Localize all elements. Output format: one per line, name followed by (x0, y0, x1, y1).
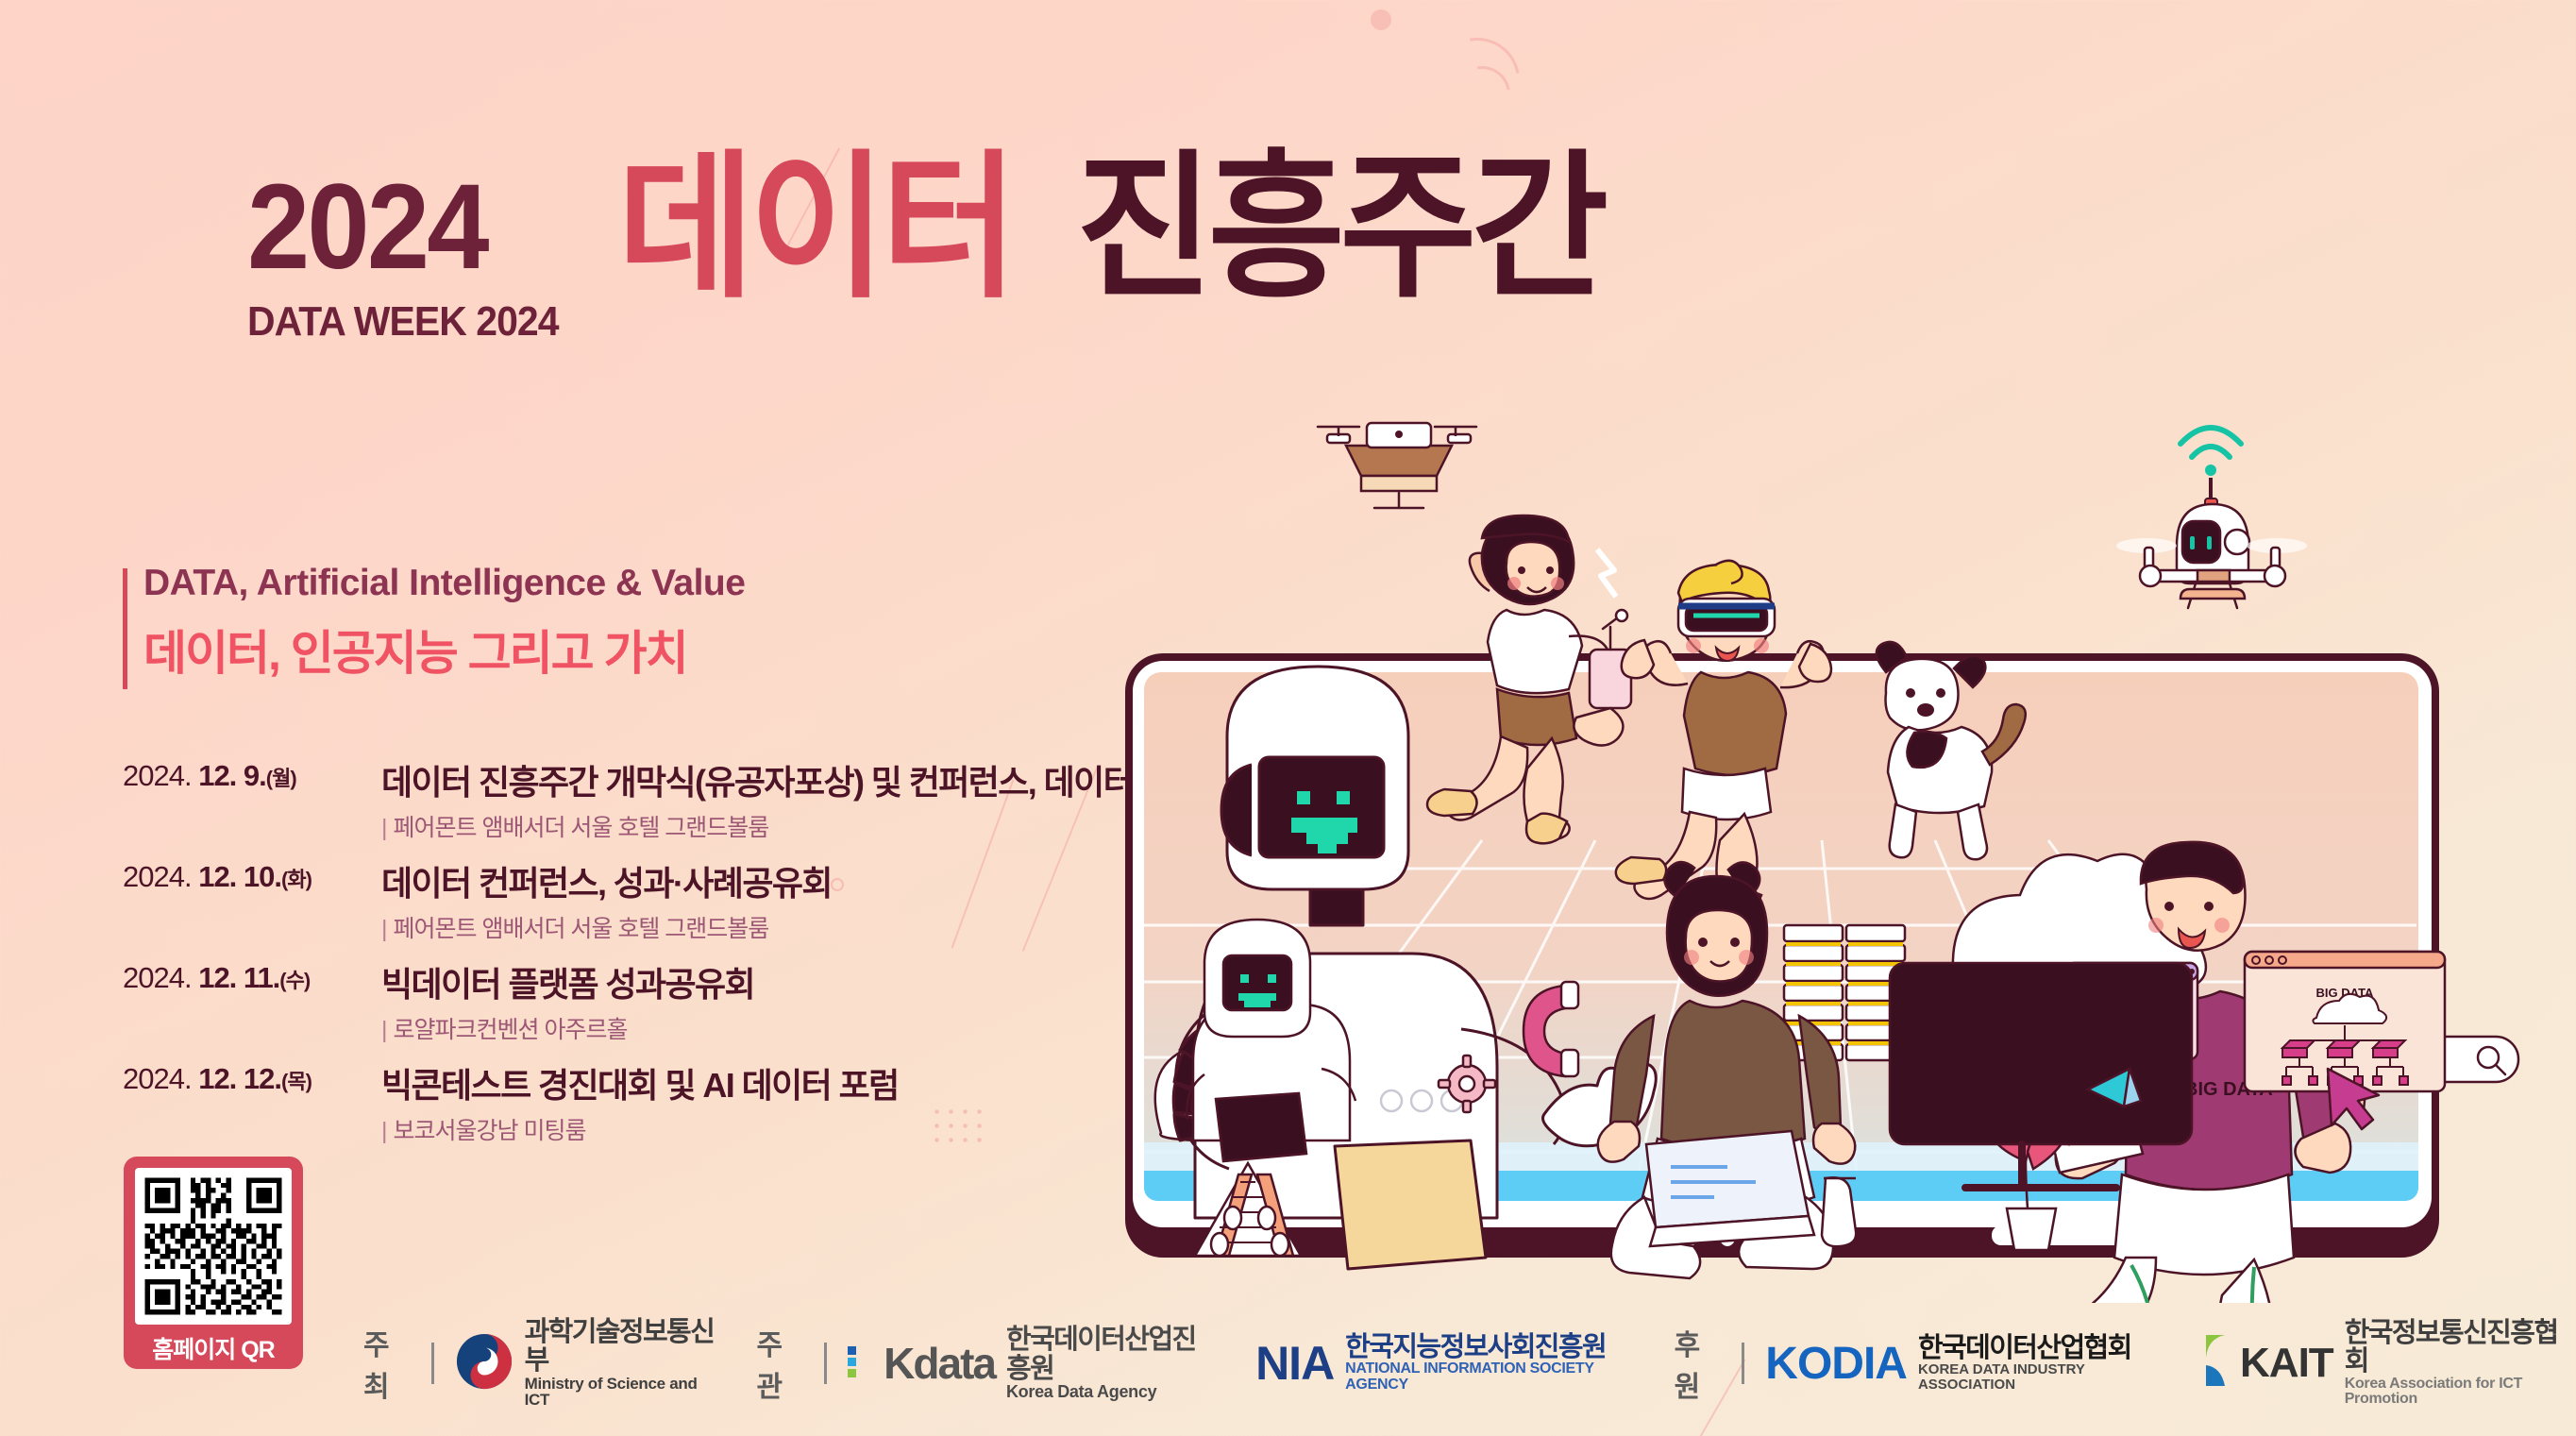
schedule-date-monthday: 12. 11. (198, 961, 279, 994)
sponsor-item-msit: 주최 과학기술정보통신부 Ministry of Science and ICT (363, 1318, 719, 1410)
venue-text: 페어몬트 앰배서더 서울 호텔 그랜드볼룸 (394, 916, 769, 942)
wifi-icon (2180, 428, 2241, 476)
sponsor-divider (1742, 1343, 1744, 1384)
schedule-title: 데이터 진흥주간 개막식(유공자포상) 및 컨퍼런스, 데이터 밋업 (381, 755, 1201, 804)
drone-delivery (1318, 423, 1476, 508)
schedule-row: 2024. 12. 11.(수) 빅데이터 플랫폼 성과공유회 |로얄파크컨벤션… (123, 957, 1201, 1045)
schedule-date-monthday: 12. 9. (198, 759, 266, 792)
kdata-icon (848, 1339, 872, 1387)
schedule-date-dow: (목) (281, 1070, 311, 1093)
sponsor-name-en: NATIONAL INFORMATION SOCIETY AGENCY (1345, 1361, 1637, 1394)
sponsor-name-ko: 과학기술정보통신부 (525, 1318, 719, 1376)
schedule-date-dow: (수) (279, 969, 310, 992)
decorative-arc-2 (1442, 55, 1522, 134)
year-2024: 2024 (247, 172, 487, 283)
schedule-date-year: 2024. (123, 860, 198, 893)
schedule-list: 2024. 12. 9.(월) 데이터 진흥주간 개막식(유공자포상) 및 컨퍼… (123, 755, 1201, 1159)
sponsor-wordmark: NIA (1255, 1336, 1334, 1391)
taegeuk-icon (455, 1332, 514, 1395)
schedule-venue: |페어몬트 앰배서더 서울 호텔 그랜드볼룸 (381, 809, 1201, 843)
schedule-date-year: 2024. (123, 961, 198, 994)
year-column: 2024 DATA WEEK 2024 (247, 172, 581, 346)
schedule-venue: |로얄파크컨벤션 아주르홀 (381, 1011, 754, 1045)
schedule-date: 2024. 12. 12.(목) (123, 1058, 376, 1096)
schedule-title: 데이터 컨퍼런스, 성과·사례공유회 (381, 856, 832, 905)
korean-title: 데이터 진흥주간 (617, 153, 1637, 304)
title-week-korean: 진흥주간 (1076, 153, 1604, 304)
schedule-date: 2024. 12. 10.(화) (123, 856, 376, 894)
title-data-korean: 데이터 (617, 153, 1013, 304)
venue-bar: | (381, 1017, 387, 1043)
schedule-date-year: 2024. (123, 1062, 198, 1095)
venue-text: 보코서울강남 미팅룸 (394, 1118, 586, 1144)
schedule-date-year: 2024. (123, 759, 198, 792)
sponsor-wordmark: KODIA (1765, 1338, 1907, 1390)
schedule-row: 2024. 12. 10.(화) 데이터 컨퍼런스, 성과·사례공유회 |페어몬… (123, 856, 1201, 944)
qr-code-image[interactable] (135, 1168, 292, 1325)
hero-illustration: BIG DATA (1104, 397, 2558, 1303)
venue-bar: | (381, 815, 387, 841)
schedule-date-dow: (월) (266, 767, 296, 790)
schedule-row: 2024. 12. 12.(목) 빅콘테스트 경진대회 및 AI 데이터 포럼 … (123, 1058, 1201, 1146)
sponsor-name-ko: 한국데이터산업진흥원 (1006, 1326, 1219, 1383)
sponsor-item-kait: KAIT 한국정보통신진흥협회 Korea Association for IC… (2197, 1319, 2576, 1408)
schedule-title: 빅데이터 플랫폼 성과공유회 (381, 957, 754, 1006)
subtitle-block: DATA, Artificial Intelligence & Value 데이… (123, 563, 745, 684)
schedule-venue: |보코서울강남 미팅룸 (381, 1112, 899, 1146)
sponsor-role-label: 주최 (363, 1322, 411, 1405)
qr-card[interactable]: 홈페이지 QR (124, 1157, 303, 1369)
sponsor-divider (431, 1343, 434, 1384)
schedule-date-monthday: 12. 12. (198, 1062, 281, 1095)
poster-title-block: 2024 DATA WEEK 2024 데이터 진흥주간 (247, 166, 1637, 346)
subtitle-english: DATA, Artificial Intelligence & Value (143, 563, 745, 604)
sponsor-name-ko: 한국정보통신진흥협회 (2345, 1319, 2576, 1377)
schedule-date: 2024. 12. 9.(월) (123, 755, 376, 793)
schedule-body: 데이터 진흥주간 개막식(유공자포상) 및 컨퍼런스, 데이터 밋업 |페어몬트… (376, 755, 1201, 843)
decorative-arc-1 (1418, 21, 1536, 139)
qr-label: 홈페이지 QR (152, 1331, 274, 1365)
sponsor-name-en: Korea Data Agency (1006, 1383, 1219, 1401)
sponsor-wordmark: KAIT (2240, 1340, 2333, 1387)
flying-robot-drone (2116, 428, 2307, 608)
schedule-date: 2024. 12. 11.(수) (123, 957, 376, 995)
sponsor-name-en: Ministry of Science and ICT (525, 1376, 719, 1410)
sponsor-item-kdata: 주관 Kdata 한국데이터산업진흥원 Korea Data Agency (757, 1322, 1219, 1405)
sponsor-name-en: Korea Association for ICT Promotion (2345, 1377, 2576, 1409)
schedule-date-monthday: 12. 10. (198, 860, 281, 893)
sponsor-role-label: 주관 (757, 1322, 804, 1405)
sponsor-wordmark: Kdata (884, 1338, 995, 1389)
kait-icon (2197, 1333, 2229, 1394)
venue-text: 페어몬트 앰배서더 서울 호텔 그랜드볼룸 (394, 815, 769, 841)
sponsor-divider (824, 1343, 827, 1384)
sponsor-name-en: KOREA DATA INDUSTRY ASSOCIATION (1918, 1362, 2159, 1393)
sponsor-name-ko: 한국지능정보사회진흥원 (1345, 1333, 1637, 1361)
schedule-row: 2024. 12. 9.(월) 데이터 진흥주간 개막식(유공자포상) 및 컨퍼… (123, 755, 1201, 843)
sponsor-name-ko: 한국데이터산업협회 (1918, 1334, 2159, 1362)
decorative-circle-1 (1371, 9, 1391, 30)
schedule-body: 데이터 컨퍼런스, 성과·사례공유회 |페어몬트 앰배서더 서울 호텔 그랜드볼… (376, 856, 832, 944)
schedule-date-dow: (화) (281, 868, 311, 891)
venue-bar: | (381, 916, 387, 942)
venue-bar: | (381, 1118, 387, 1144)
schedule-body: 빅콘테스트 경진대회 및 AI 데이터 포럼 |보코서울강남 미팅룸 (376, 1058, 899, 1146)
sponsor-item-kodia: 후원 KODIA 한국데이터산업협회 KOREA DATA INDUSTRY A… (1675, 1322, 2160, 1405)
data-week-subtitle: DATA WEEK 2024 (247, 298, 559, 346)
schedule-title: 빅콘테스트 경진대회 및 AI 데이터 포럼 (381, 1058, 899, 1107)
schedule-venue: |페어몬트 앰배서더 서울 호텔 그랜드볼룸 (381, 910, 832, 944)
sponsor-role-label: 후원 (1675, 1322, 1722, 1405)
sponsor-bar: 주최 과학기술정보통신부 Ministry of Science and ICT… (363, 1318, 2576, 1409)
schedule-body: 빅데이터 플랫폼 성과공유회 |로얄파크컨벤션 아주르홀 (376, 957, 754, 1045)
venue-text: 로얄파크컨벤션 아주르홀 (394, 1017, 628, 1043)
subtitle-korean: 데이터, 인공지능 그리고 가치 (143, 616, 745, 684)
sponsor-item-nia: NIA 한국지능정보사회진흥원 NATIONAL INFORMATION SOC… (1255, 1333, 1637, 1394)
